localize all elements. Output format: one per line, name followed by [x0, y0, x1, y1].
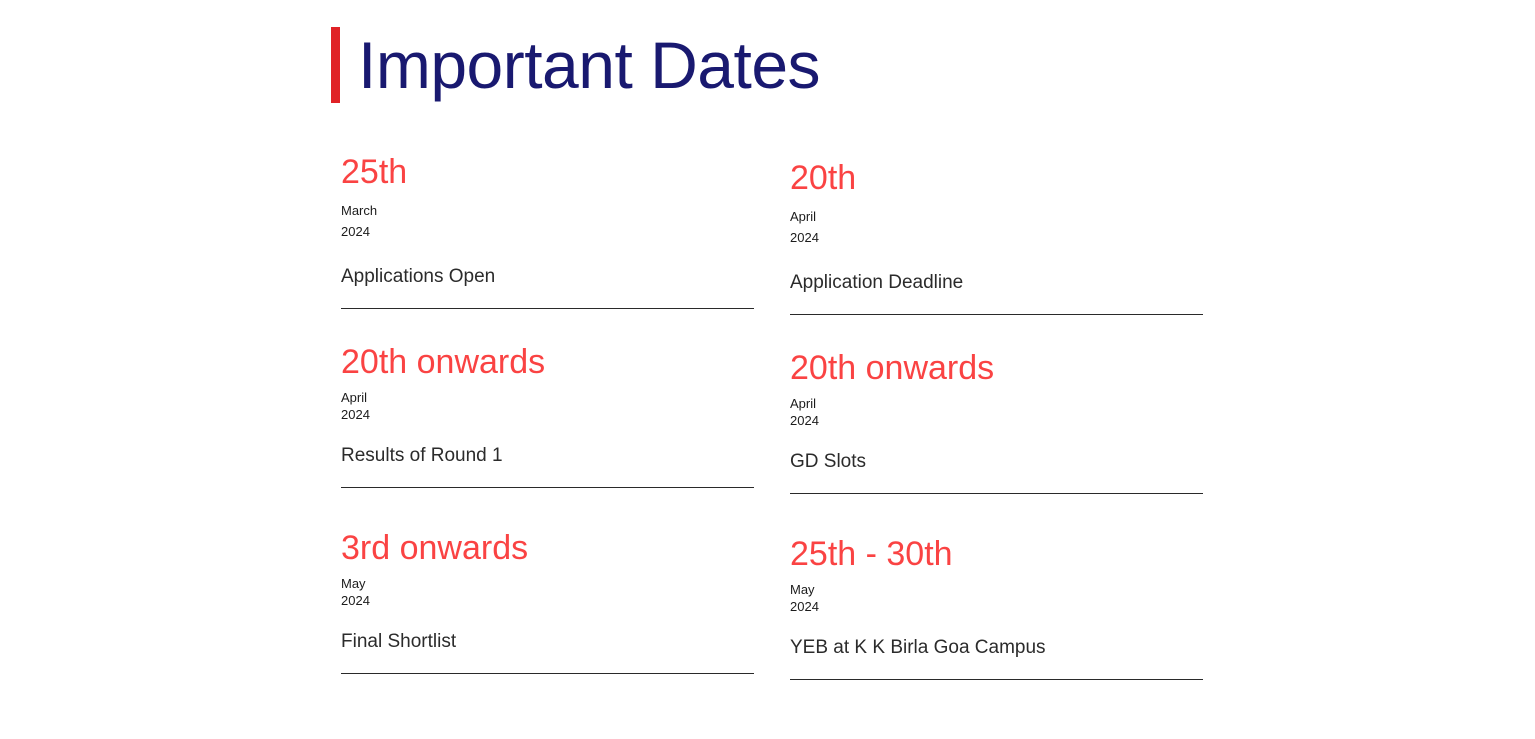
- date-month-year: March 2024: [341, 200, 754, 242]
- date-card-applications-open: 25th March 2024 Applications Open: [341, 152, 754, 309]
- date-day: 25th: [341, 152, 754, 192]
- date-month: April: [790, 206, 1203, 227]
- date-event-label: GD Slots: [790, 449, 1203, 475]
- date-year: 2024: [341, 221, 754, 242]
- date-month-year: May 2024: [341, 575, 754, 609]
- date-event-label: Applications Open: [341, 264, 754, 290]
- date-card-divider: [790, 314, 1203, 315]
- date-event-label: YEB at K K Birla Goa Campus: [790, 635, 1203, 661]
- date-card-divider: [790, 493, 1203, 494]
- date-month-year: April 2024: [790, 206, 1203, 248]
- date-month-year: May 2024: [790, 581, 1203, 615]
- date-year: 2024: [341, 406, 754, 423]
- date-day: 20th onwards: [790, 348, 1203, 388]
- date-month: March: [341, 200, 754, 221]
- date-card-results-round-1: 20th onwards April 2024 Results of Round…: [341, 342, 754, 488]
- date-card-divider: [790, 679, 1203, 680]
- date-card-final-shortlist: 3rd onwards May 2024 Final Shortlist: [341, 528, 754, 674]
- important-dates-page: Important Dates 25th March 2024 Applicat…: [0, 0, 1535, 739]
- date-day: 3rd onwards: [341, 528, 754, 568]
- date-year: 2024: [790, 598, 1203, 615]
- date-card-application-deadline: 20th April 2024 Application Deadline: [790, 158, 1203, 315]
- date-card-divider: [341, 673, 754, 674]
- date-month: April: [790, 395, 1203, 412]
- date-card-yeb-goa-campus: 25th - 30th May 2024 YEB at K K Birla Go…: [790, 534, 1203, 680]
- date-month: April: [341, 389, 754, 406]
- date-month: May: [790, 581, 1203, 598]
- date-card-divider: [341, 308, 754, 309]
- date-year: 2024: [790, 227, 1203, 248]
- important-dates-grid: 25th March 2024 Applications Open 20th A…: [0, 0, 1535, 739]
- date-card-gd-slots: 20th onwards April 2024 GD Slots: [790, 348, 1203, 494]
- date-month-year: April 2024: [790, 395, 1203, 429]
- date-card-divider: [341, 487, 754, 488]
- date-month: May: [341, 575, 754, 592]
- date-day: 20th: [790, 158, 1203, 198]
- date-year: 2024: [341, 592, 754, 609]
- date-event-label: Final Shortlist: [341, 629, 754, 655]
- date-year: 2024: [790, 412, 1203, 429]
- date-event-label: Application Deadline: [790, 270, 1203, 296]
- date-day: 20th onwards: [341, 342, 754, 382]
- date-month-year: April 2024: [341, 389, 754, 423]
- date-day: 25th - 30th: [790, 534, 1203, 574]
- date-event-label: Results of Round 1: [341, 443, 754, 469]
